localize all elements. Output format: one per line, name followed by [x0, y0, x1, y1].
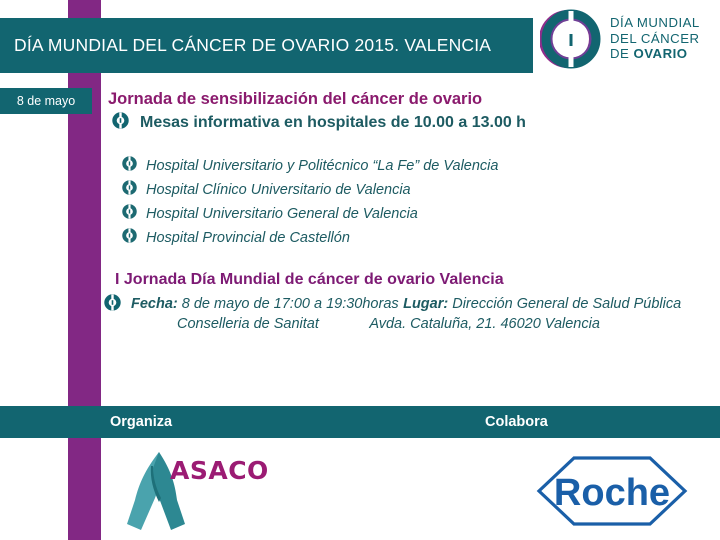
asaco-wordmark: ASACO: [170, 456, 269, 485]
list-item-label: Hospital Provincial de Castellón: [146, 230, 350, 246]
ovary-bullet-icon: [122, 156, 137, 176]
address-line-2: Avda. Cataluña, 21. 46020 Valencia: [323, 316, 600, 332]
ovary-day-logo-icon: [540, 8, 602, 70]
detail-value-lugar: Dirección General de Salud Pública: [448, 296, 681, 312]
detail-label-lugar: Lugar:: [403, 296, 448, 312]
list-item: Hospital Universitario y Politécnico “La…: [122, 156, 708, 176]
detail-body: Fecha: 8 de mayo de 17:00 a 19:30horas L…: [131, 294, 708, 334]
logo-line-3: DE OVARIO: [610, 46, 700, 62]
svg-text:Roche: Roche: [554, 472, 670, 514]
section-1-title: Jornada de sensibilización del cáncer de…: [108, 90, 708, 109]
header-logo: DÍA MUNDIAL DEL CÁNCER DE OVARIO: [540, 8, 718, 70]
sponsor-band: Organiza Colabora: [0, 406, 720, 438]
ovary-bullet-icon: [104, 294, 121, 316]
list-item: Hospital Universitario General de Valenc…: [122, 204, 708, 224]
slide-canvas: DÍA MUNDIAL DEL CÁNCER DE OVARIO 2015. V…: [0, 0, 720, 540]
header-logo-text: DÍA MUNDIAL DEL CÁNCER DE OVARIO: [610, 15, 700, 62]
roche-logo: Roche: [536, 455, 688, 527]
header-band: DÍA MUNDIAL DEL CÁNCER DE OVARIO 2015. V…: [0, 18, 533, 73]
section-2-details: Fecha: 8 de mayo de 17:00 a 19:30horas L…: [104, 294, 708, 334]
colabora-label: Colabora: [485, 406, 548, 438]
list-item: Hospital Provincial de Castellón: [122, 228, 708, 248]
list-item-label: Hospital Universitario y Politécnico “La…: [146, 158, 498, 174]
detail-line-lugar: Lugar: Dirección General de Salud Públic…: [403, 296, 681, 312]
logo-line-3-bold: OVARIO: [633, 46, 687, 61]
detail-line-fecha: Fecha: 8 de mayo de 17:00 a 19:30horas: [131, 296, 399, 312]
date-badge-label: 8 de mayo: [0, 88, 92, 114]
list-item-label: Hospital Clínico Universitario de Valenc…: [146, 182, 411, 198]
ovary-bullet-icon: [122, 204, 137, 224]
list-item-label: Hospital Universitario General de Valenc…: [146, 206, 418, 222]
awareness-ribbon-icon: [125, 519, 197, 536]
hospital-list: Hospital Universitario y Politécnico “La…: [122, 156, 708, 248]
asaco-logo: ASACO: [125, 450, 275, 532]
ovary-bullet-icon: [122, 180, 137, 200]
date-badge: 8 de mayo: [0, 88, 92, 114]
section-2-title: I Jornada Día Mundial de cáncer de ovari…: [115, 271, 708, 289]
logo-line-2: DEL CÁNCER: [610, 31, 700, 47]
section-conference: I Jornada Día Mundial de cáncer de ovari…: [108, 271, 708, 334]
page-title: DÍA MUNDIAL DEL CÁNCER DE OVARIO 2015. V…: [14, 18, 491, 73]
detail-label-fecha: Fecha:: [131, 296, 178, 312]
main-content: Jornada de sensibilización del cáncer de…: [108, 90, 708, 334]
detail-value-fecha: 8 de mayo de 17:00 a 19:30horas: [178, 296, 399, 312]
section-1-lead-row: Mesas informativa en hospitales de 10.00…: [112, 112, 708, 134]
logo-line-3-prefix: DE: [610, 46, 633, 61]
list-item: Hospital Clínico Universitario de Valenc…: [122, 180, 708, 200]
section-1-lead-text: Mesas informativa en hospitales de 10.00…: [140, 114, 526, 132]
ovary-bullet-icon: [122, 228, 137, 248]
address-line-1: Conselleria de Sanitat: [131, 316, 319, 332]
ovary-bullet-icon: [112, 112, 129, 134]
organiza-label: Organiza: [110, 406, 172, 438]
decorative-purple-stripe: [68, 0, 101, 540]
section-awareness-day: Jornada de sensibilización del cáncer de…: [108, 90, 708, 248]
logo-line-1: DÍA MUNDIAL: [610, 15, 700, 31]
